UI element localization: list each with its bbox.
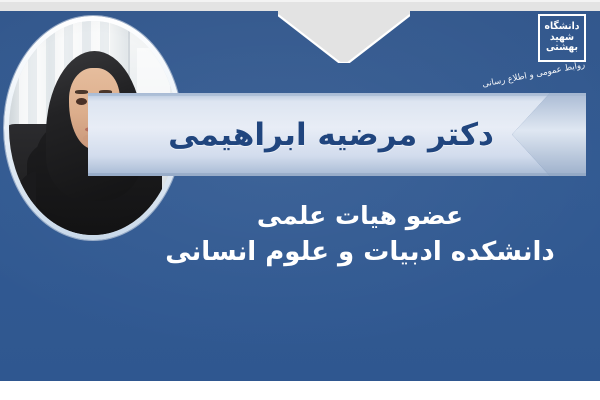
top-strip bbox=[0, 0, 600, 11]
university-logo: دانشگاه شهید بهشتی روابط عمومی و اطلاع ر… bbox=[508, 14, 586, 96]
subtitle-line-position: عضو هیات علمی bbox=[150, 198, 570, 234]
logo-line-3: بهشتی bbox=[545, 43, 580, 54]
logo-line-1: دانشگاه bbox=[545, 22, 580, 33]
logo-calligraphy: دانشگاه شهید بهشتی bbox=[545, 22, 580, 54]
name-ribbon: دکتر مرضیه ابراهیمی bbox=[88, 93, 586, 176]
doctor-name: دکتر مرضیه ابراهیمی bbox=[88, 93, 550, 176]
bottom-white-band bbox=[0, 381, 600, 400]
subtitle-block: عضو هیات علمی دانشکده ادبیات و علوم انسا… bbox=[150, 198, 570, 271]
poster-canvas: دکتر مرضیه ابراهیمی عضو هیات علمی دانشکد… bbox=[0, 0, 600, 400]
subtitle-line-faculty: دانشکده ادبیات و علوم انسانی bbox=[150, 234, 570, 271]
logo-box-icon: دانشگاه شهید بهشتی bbox=[538, 14, 586, 62]
top-strip-highlight bbox=[0, 0, 600, 2]
